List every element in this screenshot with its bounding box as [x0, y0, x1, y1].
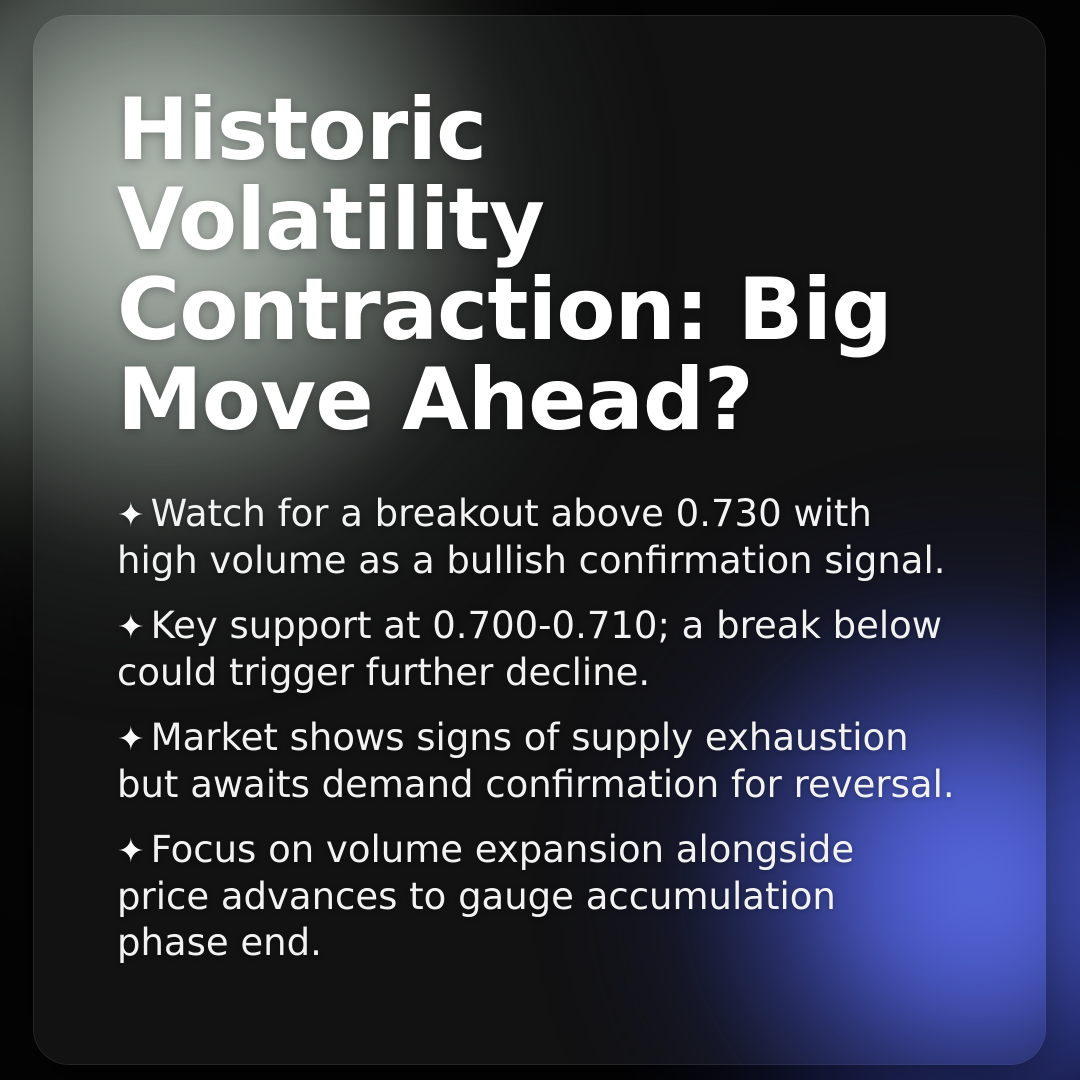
page-title: Historic Volatility Contraction: Big Mov…: [117, 85, 917, 445]
list-item: ✦Market shows signs of supply exhaustion…: [117, 715, 957, 808]
glass-card: Historic Volatility Contraction: Big Mov…: [33, 15, 1046, 1065]
four-point-star-icon: ✦: [117, 831, 151, 870]
list-item: ✦Focus on volume expansion alongside pri…: [117, 827, 957, 966]
list-item-text: Key support at 0.700-0.710; a break belo…: [117, 604, 942, 694]
poster-canvas: Historic Volatility Contraction: Big Mov…: [0, 0, 1080, 1080]
card-content: Historic Volatility Contraction: Big Mov…: [117, 85, 973, 966]
four-point-star-icon: ✦: [117, 607, 151, 646]
four-point-star-icon: ✦: [117, 495, 151, 534]
list-item-text: Market shows signs of supply exhaustion …: [117, 716, 955, 806]
insight-bullet-list: ✦Watch for a breakout above 0.730 with h…: [117, 491, 973, 966]
list-item-text: Focus on volume expansion alongside pric…: [117, 828, 854, 964]
list-item: ✦Key support at 0.700-0.710; a break bel…: [117, 603, 957, 696]
list-item: ✦Watch for a breakout above 0.730 with h…: [117, 491, 957, 584]
four-point-star-icon: ✦: [117, 719, 151, 758]
list-item-text: Watch for a breakout above 0.730 with hi…: [117, 492, 946, 582]
